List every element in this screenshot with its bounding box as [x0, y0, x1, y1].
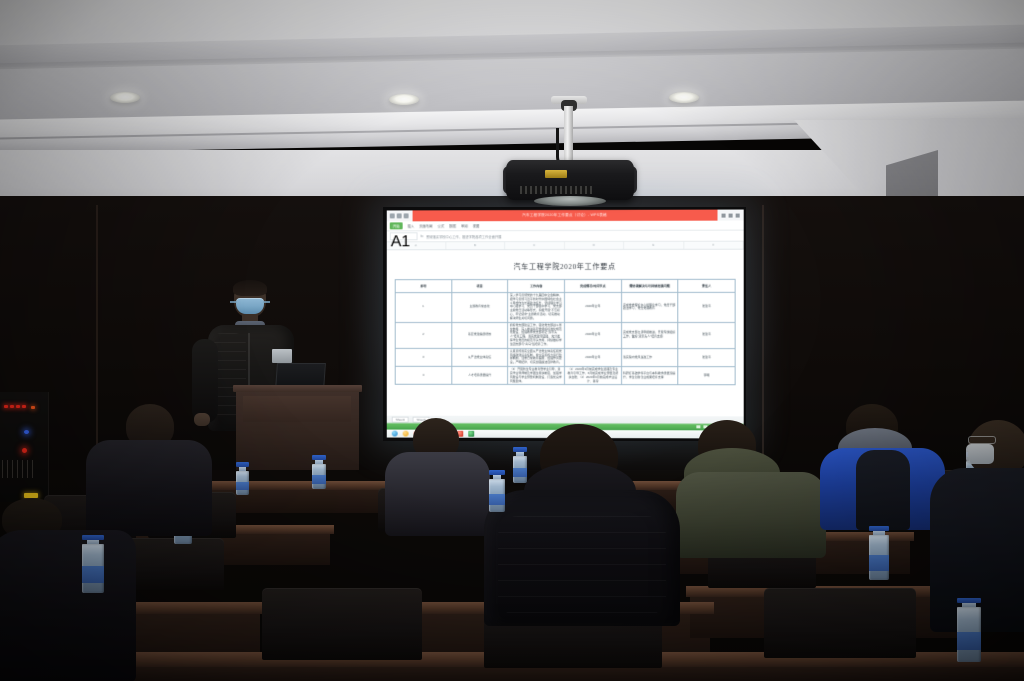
- projector-brand-badge: [545, 170, 567, 178]
- attendee-left-center: [385, 418, 490, 533]
- ribbon-tab-3[interactable]: 公式: [438, 223, 445, 228]
- ribbon-tab-1[interactable]: 插入: [407, 223, 414, 228]
- cell-issue[interactable]: 完成党委理论中心组理论学习，党员干部政治学习，党员党课教育: [621, 292, 678, 322]
- window-controls[interactable]: [722, 213, 744, 217]
- cell-issue[interactable]: 科研打基础学科平台与本科教学质量双提升，学生创新创业成果培育支撑: [621, 367, 678, 385]
- rack-led-red-1: [4, 405, 8, 408]
- rack-led-red-3: [16, 405, 20, 408]
- projected-desktop: 汽车工程学院2020年工作要点（讨论）- WPS表格 开始 插入 页面布局 公式…: [387, 210, 744, 439]
- bottle-body: [489, 479, 505, 512]
- chair-front-left: [262, 588, 422, 660]
- rack-led-blue: [24, 430, 29, 434]
- ribbon-tab-4[interactable]: 数据: [449, 223, 456, 228]
- th-issue: 需协调解决与可持续发展问题: [621, 279, 678, 292]
- cell-owner[interactable]: 张建平: [678, 348, 735, 366]
- rack-led-red-5: [22, 448, 27, 453]
- water-bottle-5: [489, 470, 505, 512]
- cell-work[interactable]: 认真贯彻落实全面从严治党主体责任和党风廉政建设责任制，健全完善权力运行监督机制，…: [508, 348, 565, 366]
- eyeglasses-icon: [968, 436, 996, 444]
- fx-icon[interactable]: fx: [421, 234, 424, 238]
- cell-time[interactable]: 2020年全年: [564, 292, 621, 322]
- close-icon[interactable]: [736, 213, 740, 217]
- presenter-name-badge: [272, 349, 292, 363]
- meeting-room-photo: 汽车工程学院2020年工作要点（讨论）- WPS表格 开始 插入 页面布局 公式…: [0, 0, 1024, 681]
- bottle-label: [82, 566, 104, 583]
- ribbon-tab-6[interactable]: 视图: [473, 223, 480, 228]
- cell-no[interactable]: 2: [395, 322, 451, 348]
- attendee-jacket: [676, 472, 826, 558]
- column-header-a[interactable]: A: [387, 242, 446, 249]
- bottle-label: [489, 494, 505, 505]
- window-title: 汽车工程学院2020年工作要点（讨论）- WPS表格: [413, 210, 718, 222]
- table-row[interactable]: 2 基层党建提质增效 抓好党支部建设工作，强化党支部战斗堡垒作用，深入推进基层党…: [395, 322, 735, 348]
- column-header-e[interactable]: E: [624, 242, 684, 249]
- rack-vent-grill: [2, 460, 36, 478]
- attendee-front-left-edge: [0, 498, 136, 681]
- downlight-center: [389, 94, 419, 105]
- water-bottle-7: [869, 526, 889, 580]
- downlight-right: [669, 92, 699, 103]
- projector-body: [506, 160, 634, 200]
- vest-inner-dark: [856, 450, 910, 530]
- quick-access-toolbar[interactable]: [387, 213, 409, 218]
- cell-owner[interactable]: 李明: [678, 367, 735, 385]
- ribbon-tab-0[interactable]: 开始: [390, 222, 403, 229]
- cell-no[interactable]: 3: [395, 348, 451, 366]
- bottle-label: [869, 555, 889, 570]
- cell-project[interactable]: 人才培养质量提升: [451, 366, 507, 384]
- bottle-body: [236, 471, 249, 495]
- table-row[interactable]: 1 主题教育常态化 深入学习贯彻党的十九届四中全会精神，把学习贯彻习近平新时代中…: [395, 292, 735, 322]
- rack-led-orange: [31, 406, 35, 409]
- attendee-jacket: [385, 452, 490, 536]
- bottle-body: [312, 464, 326, 489]
- cell-project[interactable]: 主题教育常态化: [451, 293, 507, 323]
- table-row[interactable]: 4 人才培养质量提升 （1）开展新生专业教育暨学业引导，落实学业导师制及学困生帮…: [395, 366, 735, 385]
- bottle-body: [82, 544, 104, 593]
- ribbon-tab-2[interactable]: 页面布局: [419, 223, 432, 228]
- face-mask: [236, 298, 264, 314]
- column-header-c[interactable]: C: [505, 242, 564, 249]
- projector-vent: [520, 186, 592, 194]
- downlight-left: [110, 92, 140, 103]
- worksheet-area[interactable]: 汽车工程学院2020年工作要点 序号 项目 工作内容 完成情况/时间节点 需协调…: [387, 250, 744, 418]
- cell-work[interactable]: 抓好党支部建设工作，强化党支部战斗堡垒作用，深入推进基层党组织标准化规范化建设，…: [508, 322, 565, 348]
- redo-icon[interactable]: [404, 213, 409, 218]
- formula-bar[interactable]: A1 fx 贯彻落实学校中心工作，推进学院各项工作全面开展: [387, 231, 744, 243]
- wps-title-bar: 汽车工程学院2020年工作要点（讨论）- WPS表格: [387, 210, 744, 222]
- rack-led-red-4: [22, 405, 26, 408]
- cell-issue[interactable]: 落实院内党风廉政工作: [621, 348, 678, 366]
- podium-front-panel: [243, 396, 351, 422]
- av-equipment-rack: [0, 392, 49, 502]
- bottle-label: [236, 482, 249, 490]
- ribbon-tab-5[interactable]: 审阅: [461, 223, 468, 228]
- projector-lens: [534, 196, 606, 206]
- table-row[interactable]: 3 从严治党主体责任 认真贯彻落实全面从严治党主体责任和党风廉政建设责任制，健全…: [395, 348, 735, 367]
- undo-icon[interactable]: [397, 213, 402, 218]
- table-header-row: 序号 项目 工作内容 完成情况/时间节点 需协调解决与可持续发展问题 责任人: [395, 279, 735, 292]
- bottle-body: [869, 535, 889, 580]
- minimize-icon[interactable]: [722, 213, 726, 217]
- attendee-jacket: [0, 530, 136, 681]
- column-header-b[interactable]: B: [446, 242, 505, 249]
- jacket-quilt-lines: [498, 516, 666, 616]
- mask-strap-right: [263, 301, 270, 303]
- chair-front-right: [764, 588, 916, 658]
- cell-owner[interactable]: 张建平: [678, 292, 735, 322]
- desk-row-1-top: [196, 481, 389, 490]
- projection-screen: 汽车工程学院2020年工作要点（讨论）- WPS表格 开始 插入 页面布局 公式…: [383, 207, 746, 441]
- cell-issue[interactable]: 完成党支部立项申报推进，开展专题组织工作，做好"双带头人"培育支持: [621, 322, 678, 348]
- th-owner: 责任人: [678, 279, 735, 292]
- face-mask: [966, 444, 994, 464]
- cell-no[interactable]: 4: [395, 366, 451, 384]
- mask-strap-left: [230, 301, 237, 303]
- name-box[interactable]: A1: [390, 232, 418, 240]
- presenter-hair: [233, 280, 267, 296]
- cell-time[interactable]: （1）2020年3月前完成学生选课及专业教育引导工作，6月前完成学业预警及帮扶台…: [564, 367, 621, 385]
- cell-work[interactable]: 深入学习贯彻党的十九届四中全会精神，把学习贯彻习近平新时代中国特色社会主义思想作…: [508, 293, 565, 323]
- work-plan-table: 序号 项目 工作内容 完成情况/时间节点 需协调解决与可持续发展问题 责任人 1…: [395, 279, 736, 386]
- attendee-center-front: [484, 424, 680, 624]
- th-project: 项目: [451, 280, 507, 293]
- cell-no[interactable]: 1: [395, 293, 451, 323]
- save-icon[interactable]: [390, 213, 395, 218]
- water-bottle-3: [236, 462, 249, 495]
- cell-time[interactable]: 2020年全年: [564, 348, 621, 366]
- formula-input[interactable]: 贯彻落实学校中心工作，推进学院各项工作全面开展: [426, 233, 741, 239]
- rack-led-red-2: [10, 405, 14, 408]
- ceiling: [0, 0, 1024, 118]
- cell-project[interactable]: 从严治党主体责任: [451, 348, 507, 366]
- bottle-label: [957, 632, 981, 651]
- bottle-body: [957, 607, 981, 662]
- cell-time[interactable]: 2020年全年: [564, 322, 621, 348]
- water-bottle-8: [957, 598, 981, 662]
- water-bottle-1: [82, 535, 104, 593]
- maximize-icon[interactable]: [729, 213, 733, 217]
- water-bottle-4: [312, 455, 326, 489]
- podium-top: [233, 385, 362, 392]
- cell-work[interactable]: （1）开展新生专业教育暨学业引导，落实学业导师制及学困生帮扶制度，加强学风建设与…: [508, 367, 565, 385]
- bottle-label: [312, 475, 326, 484]
- column-header-f[interactable]: F: [684, 242, 744, 249]
- cell-owner[interactable]: 张建平: [678, 322, 735, 348]
- cell-project[interactable]: 基层党建提质增效: [451, 322, 507, 348]
- th-time: 完成情况/时间节点: [564, 279, 621, 292]
- attendee-right-olive: [676, 420, 826, 552]
- th-work: 工作内容: [508, 280, 565, 293]
- th-no: 序号: [395, 280, 451, 293]
- column-header-d[interactable]: D: [565, 242, 625, 249]
- document-title: 汽车工程学院2020年工作要点: [395, 262, 736, 272]
- attendee-right-blue: [820, 404, 945, 526]
